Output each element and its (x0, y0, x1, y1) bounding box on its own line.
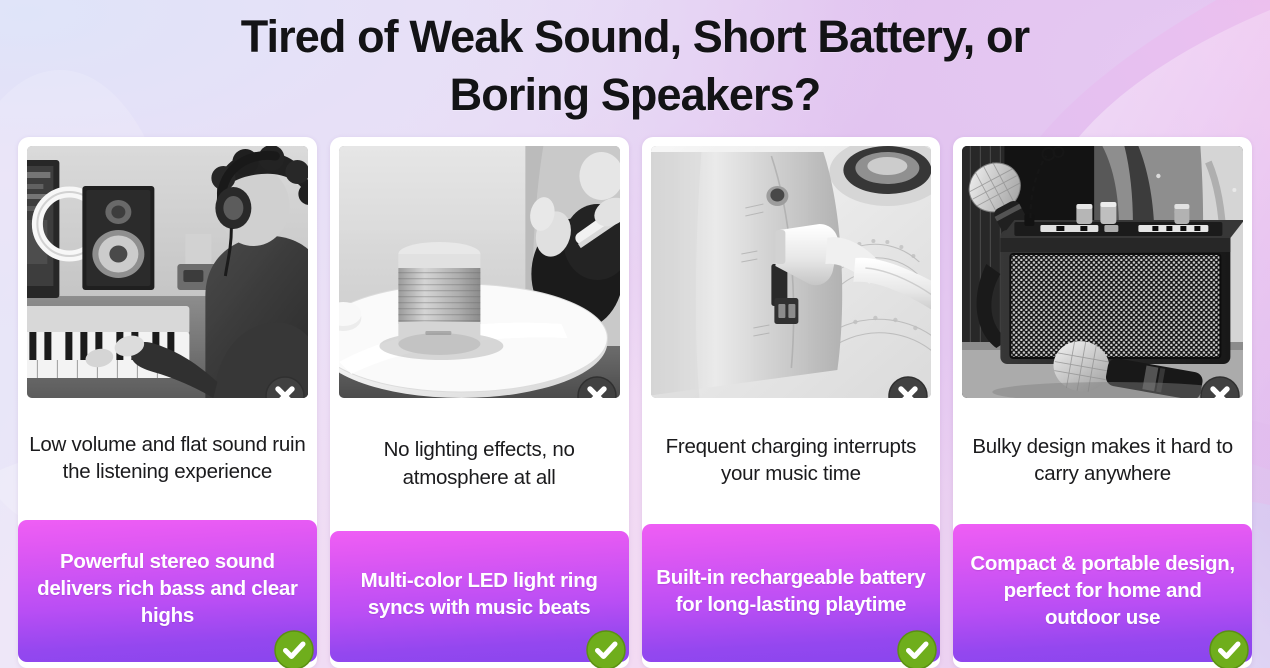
card-photo (339, 146, 620, 398)
card-photo (962, 146, 1243, 398)
comparison-card[interactable]: No lighting effects, no atmosphere at al… (330, 137, 629, 668)
card-problem-text: Low volume and flat sound ruin the liste… (18, 398, 317, 520)
card-benefit-panel: Compact & portable design, perfect for h… (953, 524, 1252, 662)
page-title-line-1: Tired of Weak Sound, Short Battery, or (0, 8, 1270, 66)
x-circle-icon (265, 376, 305, 398)
check-circle-icon (274, 630, 314, 668)
photo-cylindrical-speaker-with-guitarist (339, 146, 620, 398)
x-circle-icon (888, 376, 928, 398)
card-photo (27, 146, 308, 398)
photo-karaoke-speaker-with-microphones (962, 146, 1243, 398)
check-circle-icon (1209, 630, 1249, 668)
card-problem-text: Frequent charging interrupts your music … (642, 398, 941, 524)
card-benefit-panel: Built-in rechargeable battery for long-l… (642, 524, 941, 662)
card-benefit-panel: Multi-color LED light ring syncs with mu… (330, 531, 629, 662)
card-benefit-text: Built-in rechargeable battery for long-l… (654, 565, 929, 619)
card-benefit-text: Multi-color LED light ring syncs with mu… (342, 568, 617, 622)
check-circle-icon (897, 630, 937, 668)
comparison-card[interactable]: Low volume and flat sound ruin the liste… (18, 137, 317, 668)
comparison-card-row: Low volume and flat sound ruin the liste… (18, 137, 1252, 668)
x-circle-icon (1200, 376, 1240, 398)
card-photo (651, 146, 932, 398)
card-benefit-text: Powerful stereo sound delivers rich bass… (30, 549, 305, 630)
photo-person-at-keyboard (27, 146, 308, 398)
comparison-card[interactable]: Bulky design makes it hard to carry anyw… (953, 137, 1252, 668)
photo-charging-cable-in-speaker (651, 146, 932, 398)
card-benefit-text: Compact & portable design, perfect for h… (965, 551, 1240, 632)
check-circle-icon (586, 630, 626, 668)
page-title: Tired of Weak Sound, Short Battery, or B… (0, 8, 1270, 123)
card-problem-text: No lighting effects, no atmosphere at al… (330, 398, 629, 531)
comparison-card[interactable]: Frequent charging interrupts your music … (642, 137, 941, 668)
x-circle-icon (577, 376, 617, 398)
card-problem-text: Bulky design makes it hard to carry anyw… (953, 398, 1252, 524)
page-title-line-2: Boring Speakers? (0, 66, 1270, 124)
card-benefit-panel: Powerful stereo sound delivers rich bass… (18, 520, 317, 662)
